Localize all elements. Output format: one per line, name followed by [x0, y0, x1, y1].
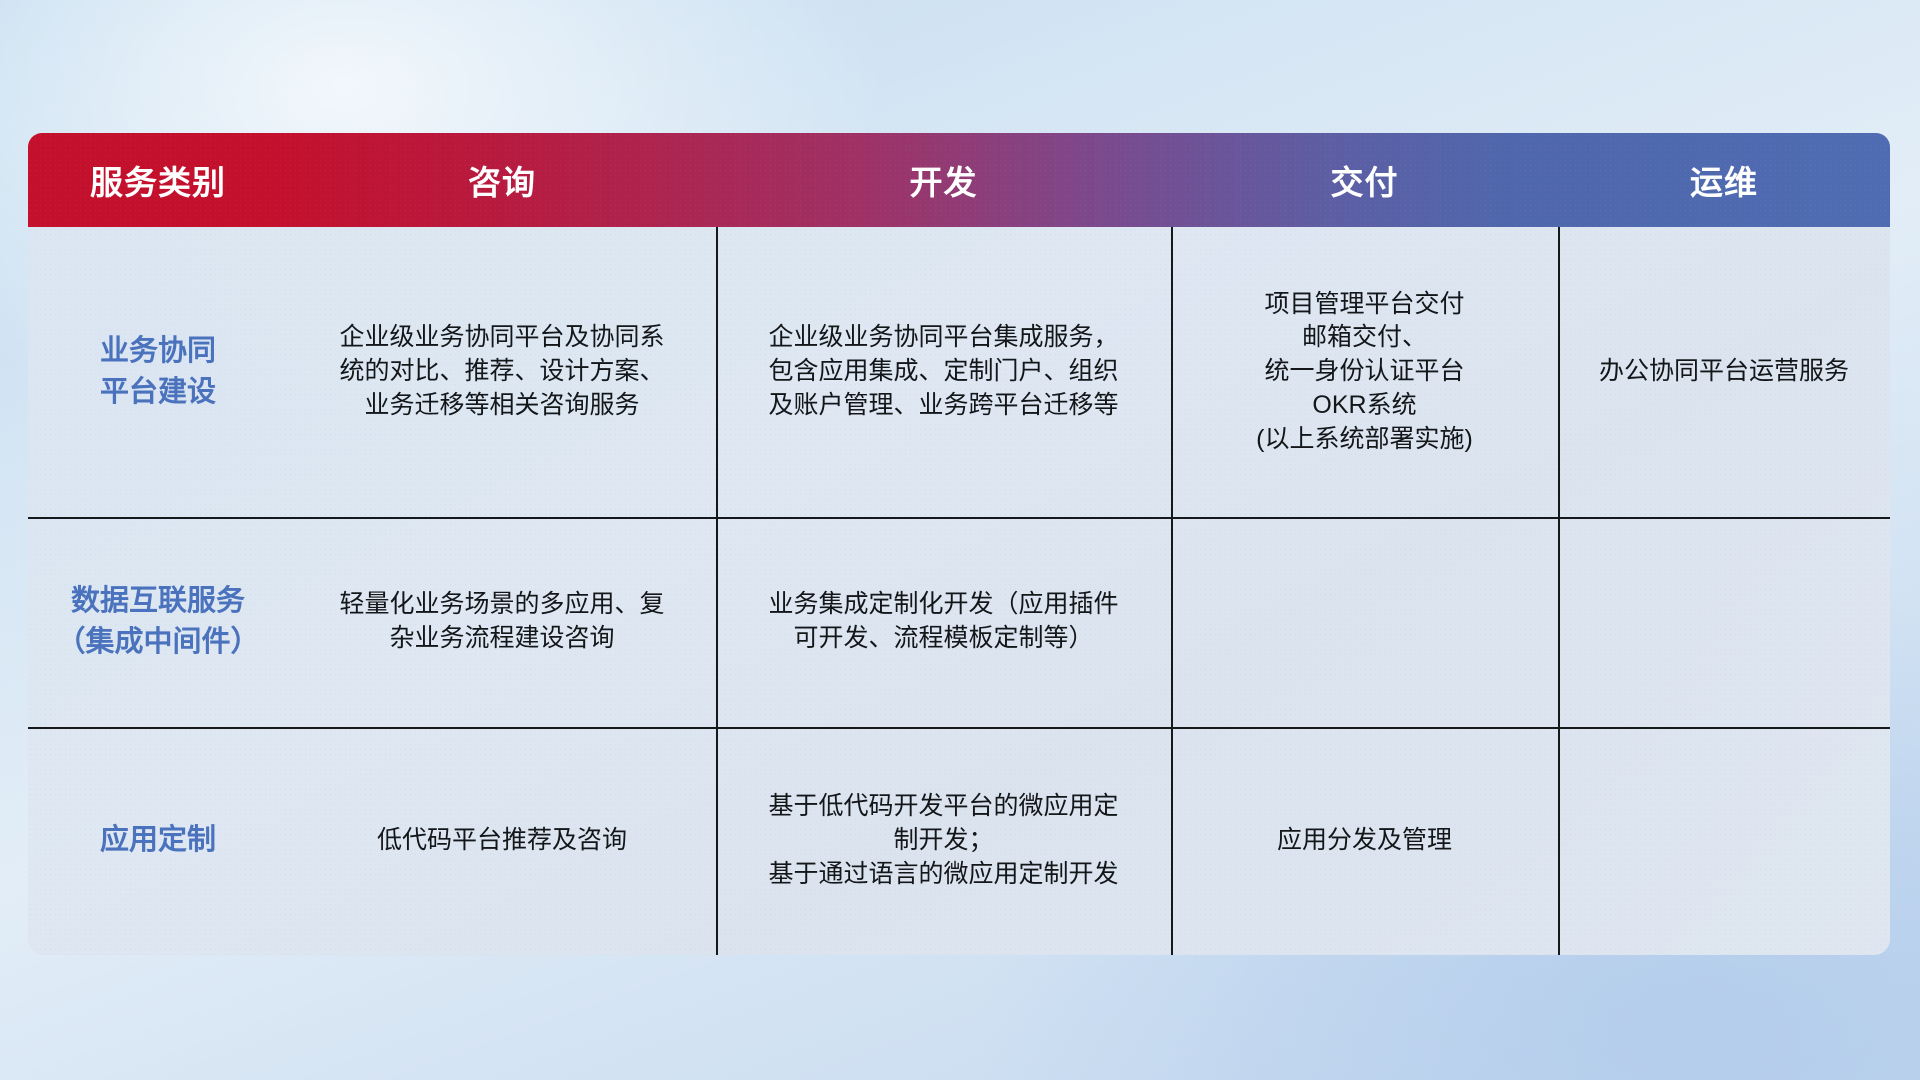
- cell-operations: [1558, 727, 1890, 955]
- row-label-data-integration: 数据互联服务 （集成中间件）: [28, 517, 288, 727]
- row-label-application-customization: 应用定制: [28, 727, 288, 955]
- cell-delivery: 项目管理平台交付 邮箱交付、 统一身份认证平台 OKR系统 (以上系统部署实施): [1171, 227, 1558, 517]
- column-header-development: 开发: [716, 133, 1171, 227]
- table-row: 业务协同 平台建设 企业级业务协同平台及协同系 统的对比、推荐、设计方案、 业务…: [28, 227, 1890, 517]
- cell-development: 企业级业务协同平台集成服务， 包含应用集成、定制门户、组织 及账户管理、业务跨平…: [716, 227, 1171, 517]
- cell-consulting: 轻量化业务场景的多应用、复 杂业务流程建设咨询: [288, 517, 716, 727]
- cell-delivery: 应用分发及管理: [1171, 727, 1558, 955]
- table-row: 数据互联服务 （集成中间件） 轻量化业务场景的多应用、复 杂业务流程建设咨询 业…: [28, 517, 1890, 727]
- column-header-consulting: 咨询: [288, 133, 716, 227]
- table-header-row: 服务类别 咨询 开发 交付 运维: [28, 133, 1890, 227]
- cell-consulting: 企业级业务协同平台及协同系 统的对比、推荐、设计方案、 业务迁移等相关咨询服务: [288, 227, 716, 517]
- table-row: 应用定制 低代码平台推荐及咨询 基于低代码开发平台的微应用定 制开发； 基于通过…: [28, 727, 1890, 955]
- cell-operations: 办公协同平台运营服务: [1558, 227, 1890, 517]
- row-label-business-collaboration: 业务协同 平台建设: [28, 227, 288, 517]
- cell-development: 业务集成定制化开发（应用插件 可开发、流程模板定制等）: [716, 517, 1171, 727]
- column-header-delivery: 交付: [1171, 133, 1558, 227]
- service-matrix-table: 服务类别 咨询 开发 交付 运维 业务协同 平台建设 企业级业务协同平台及协同系…: [28, 133, 1890, 955]
- cell-delivery: [1171, 517, 1558, 727]
- column-header-operations: 运维: [1558, 133, 1890, 227]
- cell-consulting: 低代码平台推荐及咨询: [288, 727, 716, 955]
- column-header-service-category: 服务类别: [28, 133, 288, 227]
- cell-development: 基于低代码开发平台的微应用定 制开发； 基于通过语言的微应用定制开发: [716, 727, 1171, 955]
- table-body: 业务协同 平台建设 企业级业务协同平台及协同系 统的对比、推荐、设计方案、 业务…: [28, 227, 1890, 955]
- cell-operations: [1558, 517, 1890, 727]
